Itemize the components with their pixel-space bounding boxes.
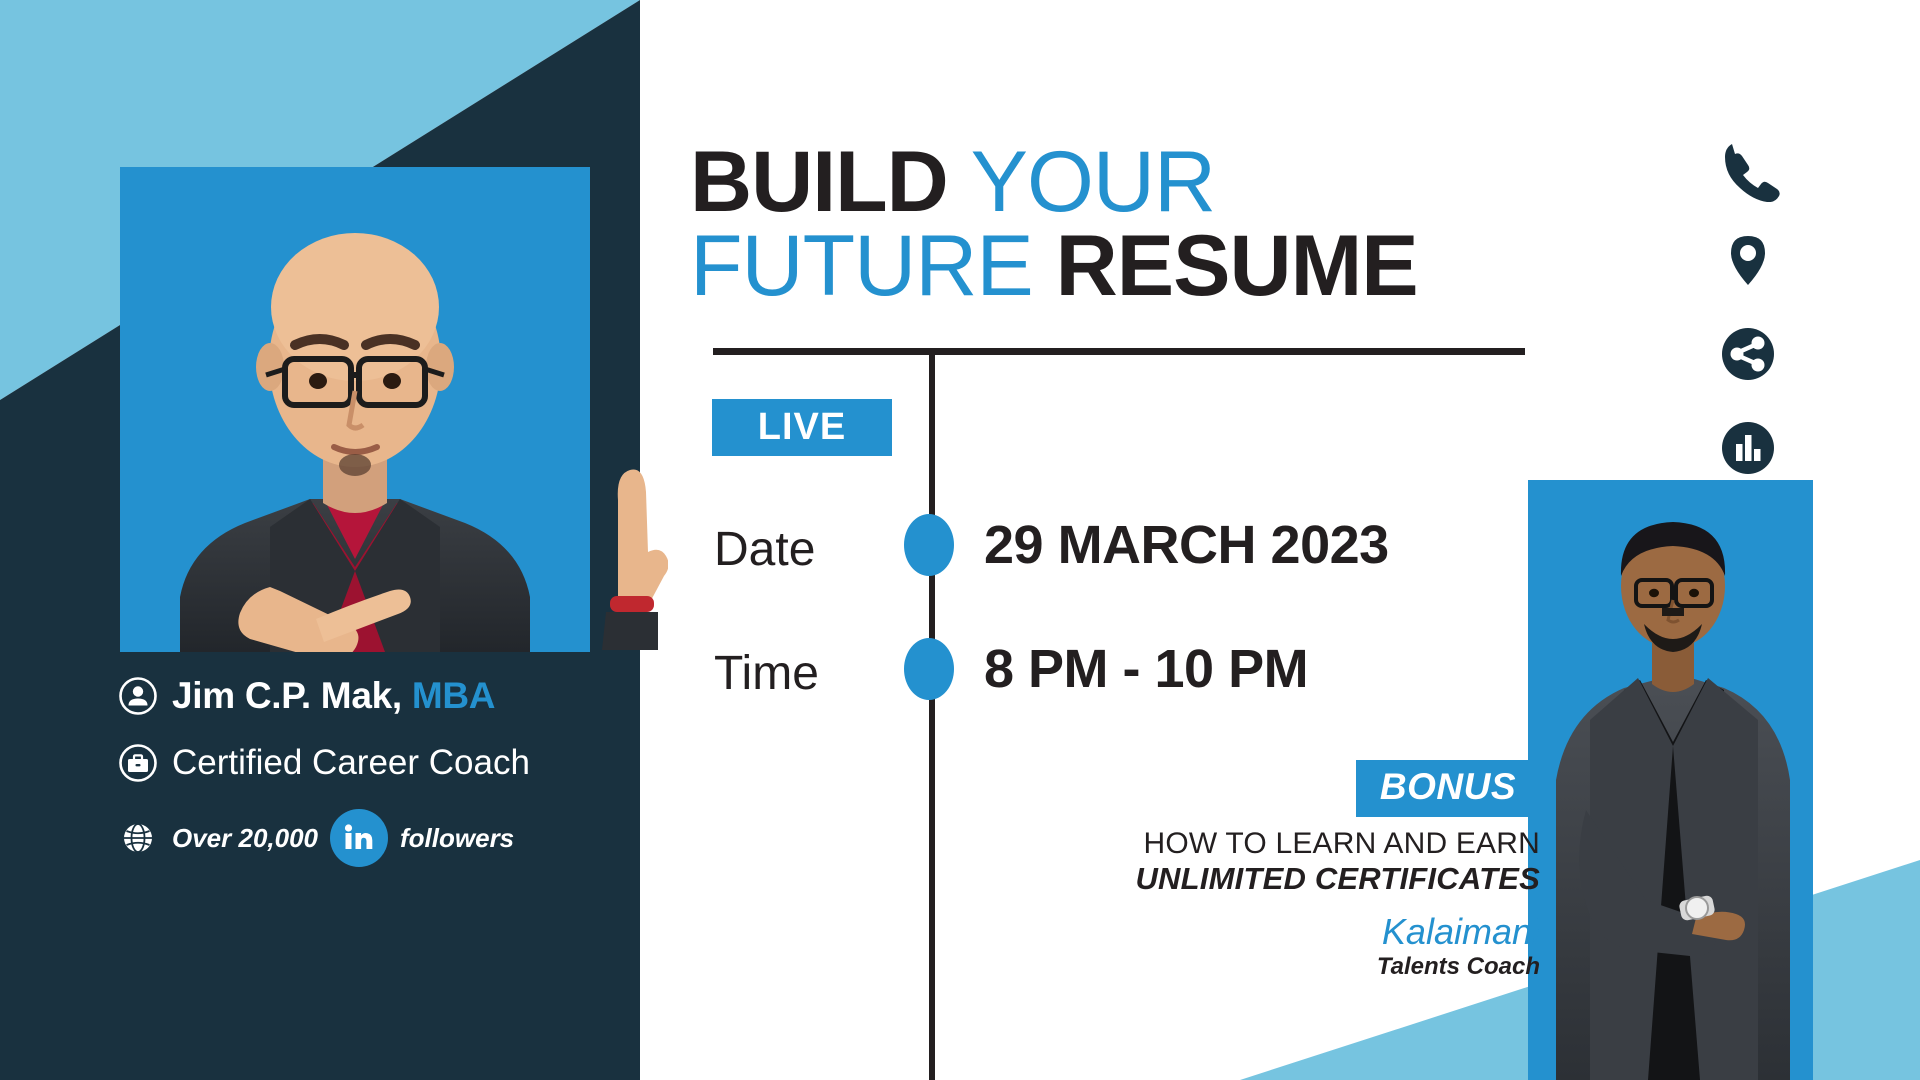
event-value-date: 29 MARCH 2023 [984,514,1389,576]
speaker-followers-row: Over 20,000 followers [118,809,618,867]
location-pin-icon[interactable] [1712,224,1784,296]
followers-count: Over 20,000 [172,823,318,854]
event-label-date: Date [714,522,815,577]
share-icon[interactable] [1712,318,1784,390]
speaker-name: Jim C.P. Mak, MBA [172,675,495,717]
speaker-portrait-right [1528,480,1813,1080]
speaker-info-block: Jim C.P. Mak, MBA Certified Career Coach [118,675,618,893]
briefcase-icon [118,743,158,783]
headline-divider [713,348,1525,355]
phone-icon[interactable] [1712,130,1784,202]
linkedin-icon[interactable] [330,809,388,867]
bonus-line-2: UNLIMITED CERTIFICATES [1020,861,1540,897]
timeline-dot-time [904,638,954,700]
pointing-hand-icon [588,350,668,650]
globe-icon [118,818,158,858]
followers-text: Over 20,000 followers [172,809,514,867]
event-details: Date 29 MARCH 2023 Time 8 PM - 10 PM [690,500,1570,748]
followers-label: followers [400,823,514,854]
speaker-role-row: Certified Career Coach [118,743,618,783]
bonus-line-1: HOW TO LEARN AND EARN [1020,827,1540,861]
person-icon [118,676,158,716]
speaker-photo-jim [120,167,590,652]
bonus-presenter-role: Talents Coach [1020,953,1540,981]
headline-line-2: FUTURE RESUME [690,224,1550,308]
bonus-presenter-name: Kalaimani [1020,911,1540,953]
timeline-dot-date [904,514,954,576]
headline-line-1: BUILD YOUR [690,140,1550,224]
bonus-block: BONUS HOW TO LEARN AND EARN UNLIMITED CE… [1020,760,1540,981]
event-row-date: Date 29 MARCH 2023 [690,500,1570,624]
bar-chart-icon[interactable] [1712,412,1784,484]
speaker-photo-kalaimani [1528,480,1813,1080]
event-label-time: Time [714,646,819,701]
speaker-portrait-left [120,167,590,652]
live-badge: LIVE [712,399,892,456]
speaker-role: Certified Career Coach [172,743,530,783]
promo-banner: Jim C.P. Mak, MBA Certified Career Coach [0,0,1920,1080]
headline: BUILD YOUR FUTURE RESUME [690,140,1550,309]
contact-icon-strip [1712,130,1802,506]
bonus-badge: BONUS [1356,760,1540,817]
speaker-name-row: Jim C.P. Mak, MBA [118,675,618,717]
event-row-time: Time 8 PM - 10 PM [690,624,1570,748]
event-value-time: 8 PM - 10 PM [984,638,1308,700]
